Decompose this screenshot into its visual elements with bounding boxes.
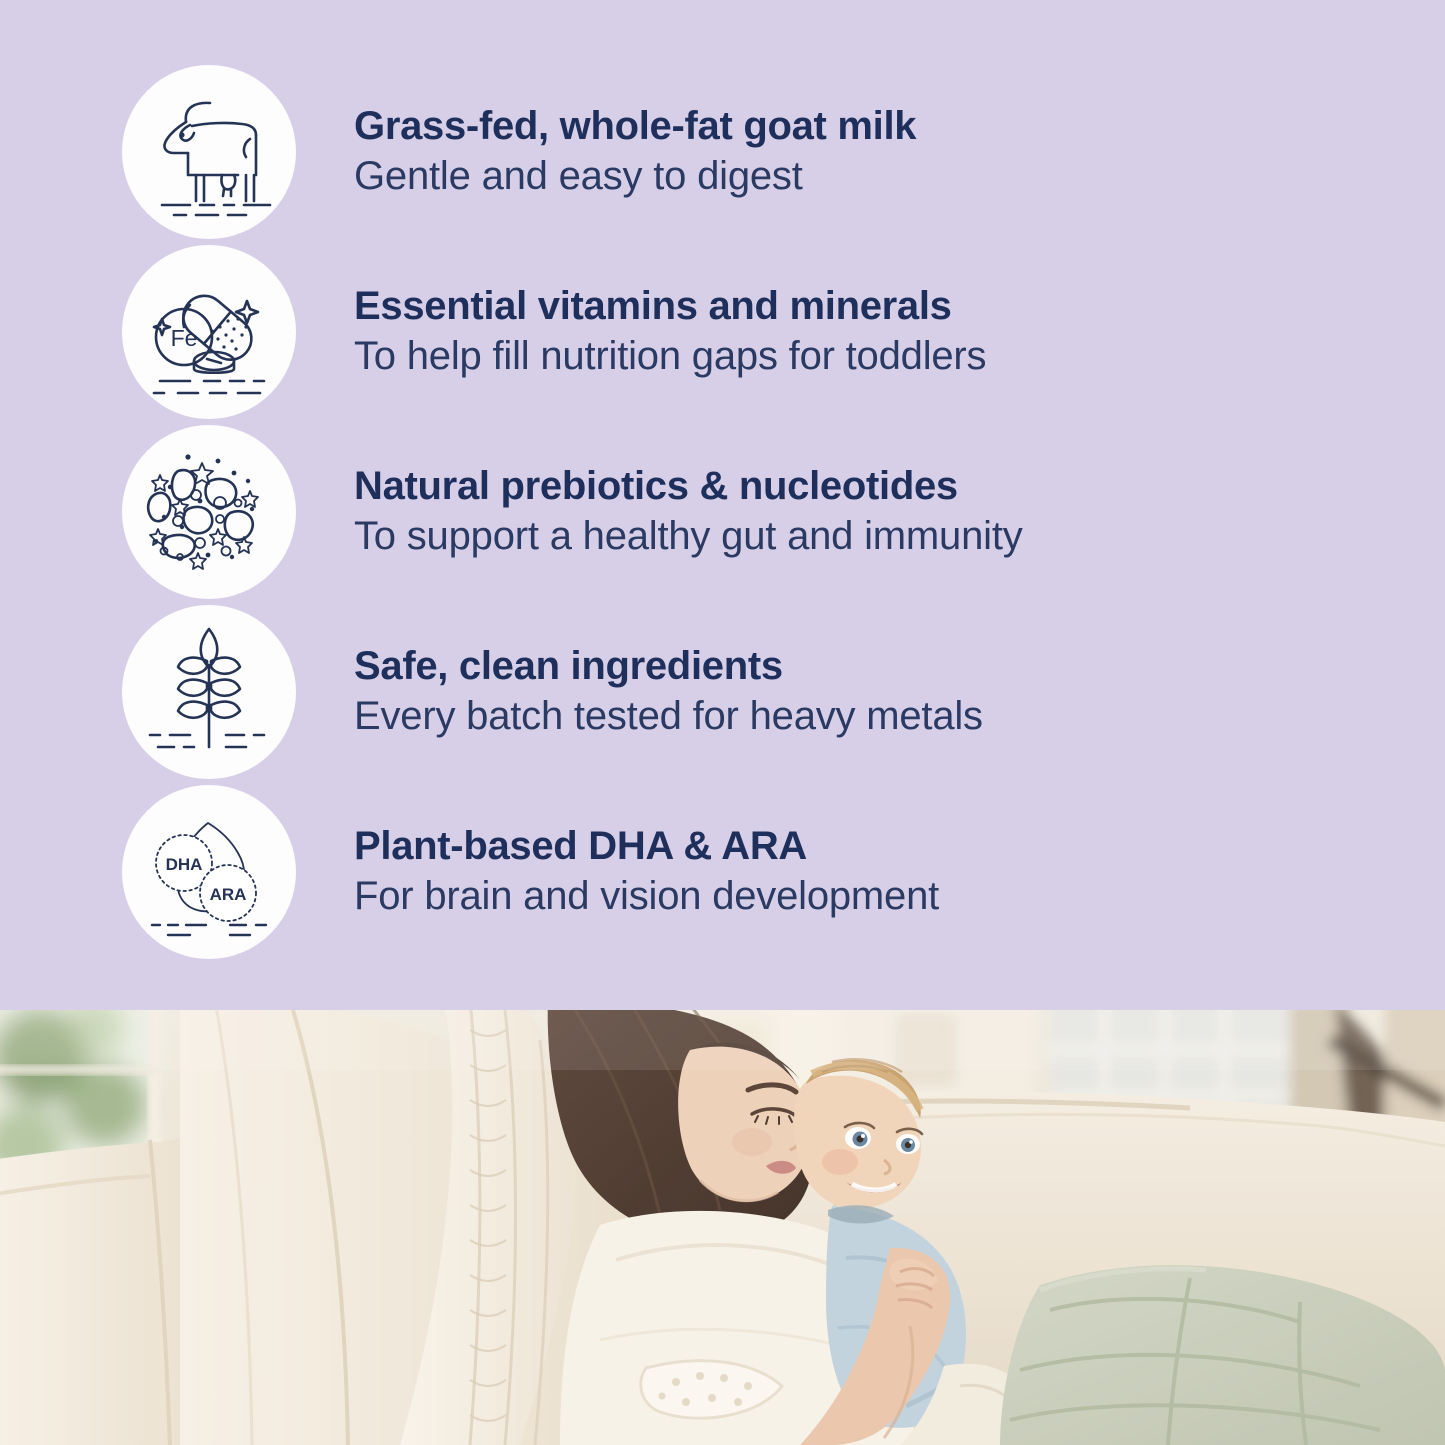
benefit-subtitle: Gentle and easy to digest xyxy=(354,152,916,201)
fe-label: Fe xyxy=(171,325,198,351)
vitamin-capsule-icon: Fe xyxy=(122,245,296,419)
benefit-title: Grass-fed, whole-fat goat milk xyxy=(354,103,916,150)
benefit-item: Safe, clean ingredients Every batch test… xyxy=(0,602,1445,782)
benefit-item: Grass-fed, whole-fat goat milk Gentle an… xyxy=(0,62,1445,242)
ara-label: ARA xyxy=(210,885,247,904)
benefit-text: Grass-fed, whole-fat goat milk Gentle an… xyxy=(296,103,916,201)
benefit-text: Plant-based DHA & ARA For brain and visi… xyxy=(296,823,939,921)
dha-ara-icon: DHA ARA xyxy=(122,785,296,959)
benefit-title: Plant-based DHA & ARA xyxy=(354,823,939,870)
benefit-item: DHA ARA Plant-based DHA & ARA For brain … xyxy=(0,782,1445,962)
benefit-subtitle: Every batch tested for heavy metals xyxy=(354,692,983,741)
benefit-item: Natural prebiotics & nucleotides To supp… xyxy=(0,422,1445,602)
benefit-item: Fe Essential vitamins and minerals To he… xyxy=(0,242,1445,422)
photo-illustration xyxy=(0,1010,1445,1445)
benefit-subtitle: For brain and vision development xyxy=(354,872,939,921)
benefit-title: Safe, clean ingredients xyxy=(354,643,983,690)
benefit-text: Essential vitamins and minerals To help … xyxy=(296,283,986,381)
product-benefits-page: Grass-fed, whole-fat goat milk Gentle an… xyxy=(0,0,1445,1445)
benefit-subtitle: To support a healthy gut and immunity xyxy=(354,512,1023,561)
dha-label: DHA xyxy=(166,855,203,874)
benefit-text: Natural prebiotics & nucleotides To supp… xyxy=(296,463,1023,561)
probiotics-icon xyxy=(122,425,296,599)
goat-icon xyxy=(122,65,296,239)
lifestyle-photo xyxy=(0,1010,1445,1445)
benefit-text: Safe, clean ingredients Every batch test… xyxy=(296,643,983,741)
benefit-title: Natural prebiotics & nucleotides xyxy=(354,463,1023,510)
wheat-stalk-icon xyxy=(122,605,296,779)
benefits-list: Grass-fed, whole-fat goat milk Gentle an… xyxy=(0,0,1445,1010)
benefit-title: Essential vitamins and minerals xyxy=(354,283,986,330)
benefit-subtitle: To help fill nutrition gaps for toddlers xyxy=(354,332,986,381)
